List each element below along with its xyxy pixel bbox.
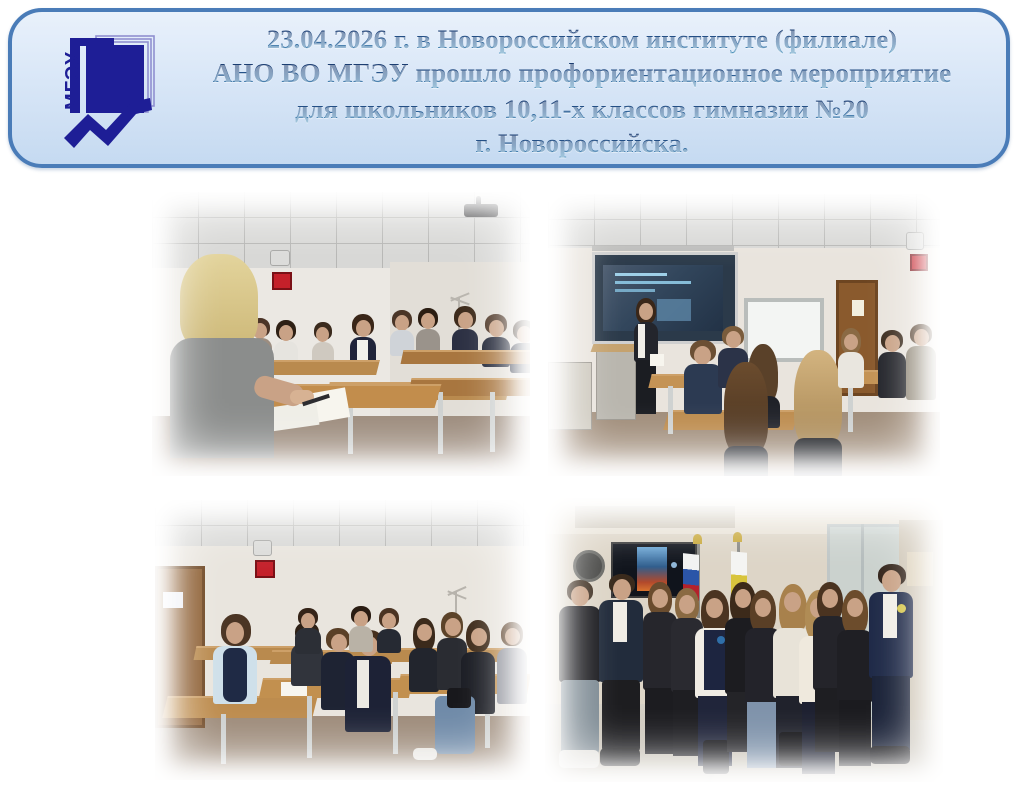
banner-title: 23.04.2026 г. в Новороссийском институте… xyxy=(162,22,1002,160)
fire-alarm-icon xyxy=(910,254,928,271)
banner-title-line-3: для школьников 10,11-х классов гимназии … xyxy=(162,92,1002,126)
projector-icon xyxy=(464,204,498,217)
lectern xyxy=(596,350,636,420)
fire-alarm-icon xyxy=(255,560,275,578)
photo-group-lobby xyxy=(545,498,943,782)
photo-classroom-teacher xyxy=(152,192,530,476)
banner-title-line-1: 23.04.2026 г. в Новороссийском институте… xyxy=(162,22,1002,56)
flag-finial xyxy=(693,534,702,544)
mgeu-logo: МГЭУ xyxy=(40,26,170,158)
school-emblem xyxy=(897,604,906,613)
handbag xyxy=(447,688,471,708)
photo-presentation-screen xyxy=(548,194,940,476)
teacher-figure xyxy=(170,254,290,454)
school-emblem xyxy=(717,636,725,644)
banner-title-line-4: г. Новороссийска. xyxy=(162,126,1002,160)
photo-gallery xyxy=(0,178,1024,787)
photo-students-desks xyxy=(155,500,530,780)
svg-text:МГЭУ: МГЭУ xyxy=(62,51,84,110)
smoke-sensor-icon xyxy=(253,540,272,556)
ac-vent-icon xyxy=(906,232,924,250)
header-banner: МГЭУ 23.04.2026 г. в Новороссийском инст… xyxy=(8,8,1010,168)
projection-screen xyxy=(592,252,738,344)
mgeu-logo-icon: МГЭУ xyxy=(40,26,170,158)
banner-title-line-2: АНО ВО МГЭУ прошло профориентационное ме… xyxy=(162,56,1002,91)
presenter-figure xyxy=(632,298,660,418)
